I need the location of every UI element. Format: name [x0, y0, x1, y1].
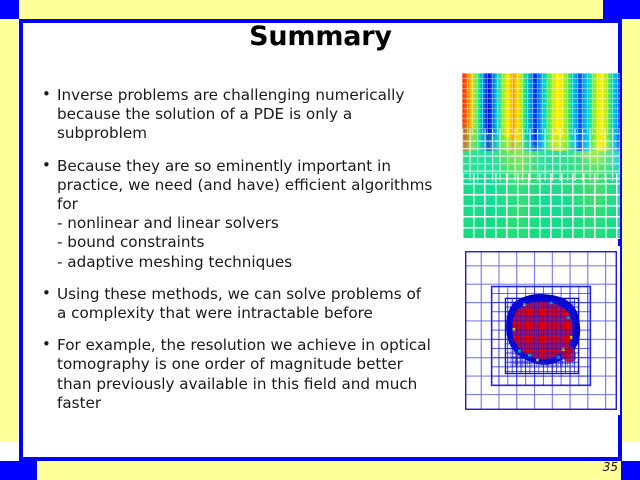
frame-corner-top-right [603, 0, 640, 19]
frame-rule-left [19, 19, 23, 461]
bullet-text-1: Inverse problems are challenging numeric… [57, 86, 453, 144]
wave-field-contour-svg [462, 73, 620, 239]
frame-corner-bottom-right [621, 461, 640, 480]
frame-rule-bottom [19, 457, 622, 461]
adaptive-mesh-svg [463, 247, 619, 414]
bullet-subitems-2: - nonlinear and linear solvers - bound c… [57, 214, 453, 272]
page-number: 35 [592, 460, 618, 474]
bullet-text-2: Because they are so eminently important … [57, 157, 453, 215]
bullet-item-2: • Because they are so eminently importan… [38, 157, 453, 272]
bullet-marker-icon: • [42, 156, 51, 175]
bullet-text-3: Using these methods, we can solve proble… [57, 285, 453, 323]
bullet-item-4: • For example, the resolution we achieve… [38, 336, 453, 413]
slide-title: Summary [23, 22, 618, 52]
bullet-marker-icon: • [42, 335, 51, 354]
bullet-item-1: • Inverse problems are challenging numer… [38, 86, 453, 144]
bullet-list: • Inverse problems are challenging numer… [38, 86, 453, 413]
slide-canvas: Summary • Inverse problems are challengi… [0, 0, 640, 480]
bullet-item-3: • Using these methods, we can solve prob… [38, 285, 453, 323]
frame-band-top [0, 0, 640, 19]
frame-band-left [0, 19, 18, 442]
frame-band-right [622, 19, 640, 442]
frame-band-bottom [0, 461, 640, 480]
frame-corner-bottom-left [0, 461, 37, 480]
bullet-text-4: For example, the resolution we achieve i… [57, 336, 453, 413]
bullet-marker-icon: • [42, 284, 51, 303]
wave-field-contour-figure [462, 73, 620, 239]
adaptive-mesh-figure [462, 246, 620, 415]
frame-corner-top-left [0, 0, 19, 19]
bullet-marker-icon: • [42, 85, 51, 104]
